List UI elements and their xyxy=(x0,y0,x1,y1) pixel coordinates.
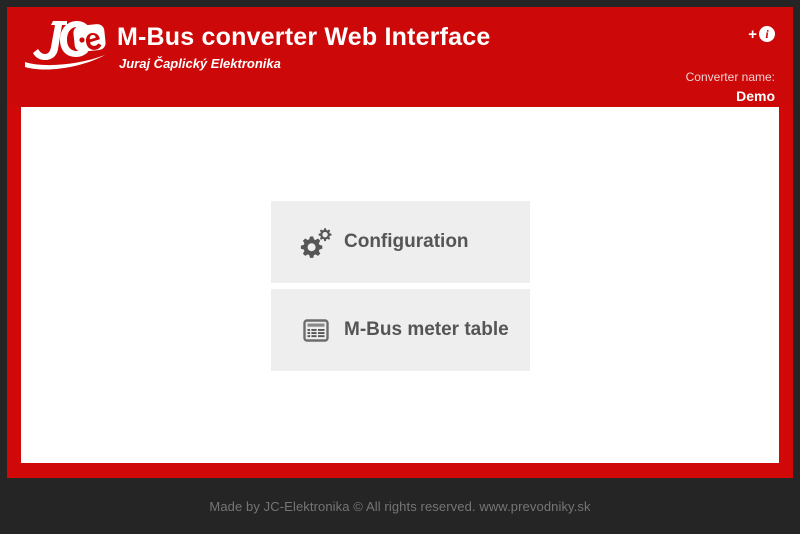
jce-logo xyxy=(17,15,109,73)
content-area: Configuration xyxy=(21,107,779,463)
header-right-block: + i Converter name: Demo xyxy=(686,25,775,105)
brand-block: M-Bus converter Web Interface Juraj Čapl… xyxy=(17,15,491,73)
content-frame: Configuration xyxy=(7,106,793,478)
converter-name-label: Converter name: xyxy=(686,69,775,85)
table-icon xyxy=(300,314,332,346)
converter-name-value: Demo xyxy=(686,87,775,105)
menu-button-mbus-meter-table[interactable]: M-Bus meter table xyxy=(271,289,530,371)
plus-icon[interactable]: + xyxy=(748,27,757,42)
app-header: M-Bus converter Web Interface Juraj Čapl… xyxy=(7,7,793,106)
menu-button-configuration[interactable]: Configuration xyxy=(271,201,530,283)
info-icon[interactable]: i xyxy=(759,26,775,42)
menu-button-label: M-Bus meter table xyxy=(344,319,509,341)
footer-copyright-text: Made by JC-Elektronika © All rights rese… xyxy=(209,499,590,514)
gears-icon xyxy=(300,226,332,258)
page-footer: Made by JC-Elektronika © All rights rese… xyxy=(0,479,800,534)
menu-button-label: Configuration xyxy=(344,231,469,253)
page-root: M-Bus converter Web Interface Juraj Čapl… xyxy=(0,0,800,534)
main-menu: Configuration xyxy=(271,201,530,371)
info-row: + i xyxy=(686,25,775,43)
title-block: M-Bus converter Web Interface Juraj Čapl… xyxy=(117,15,491,73)
page-title: M-Bus converter Web Interface xyxy=(117,23,491,51)
page-subtitle: Juraj Čaplický Elektronika xyxy=(119,55,491,73)
